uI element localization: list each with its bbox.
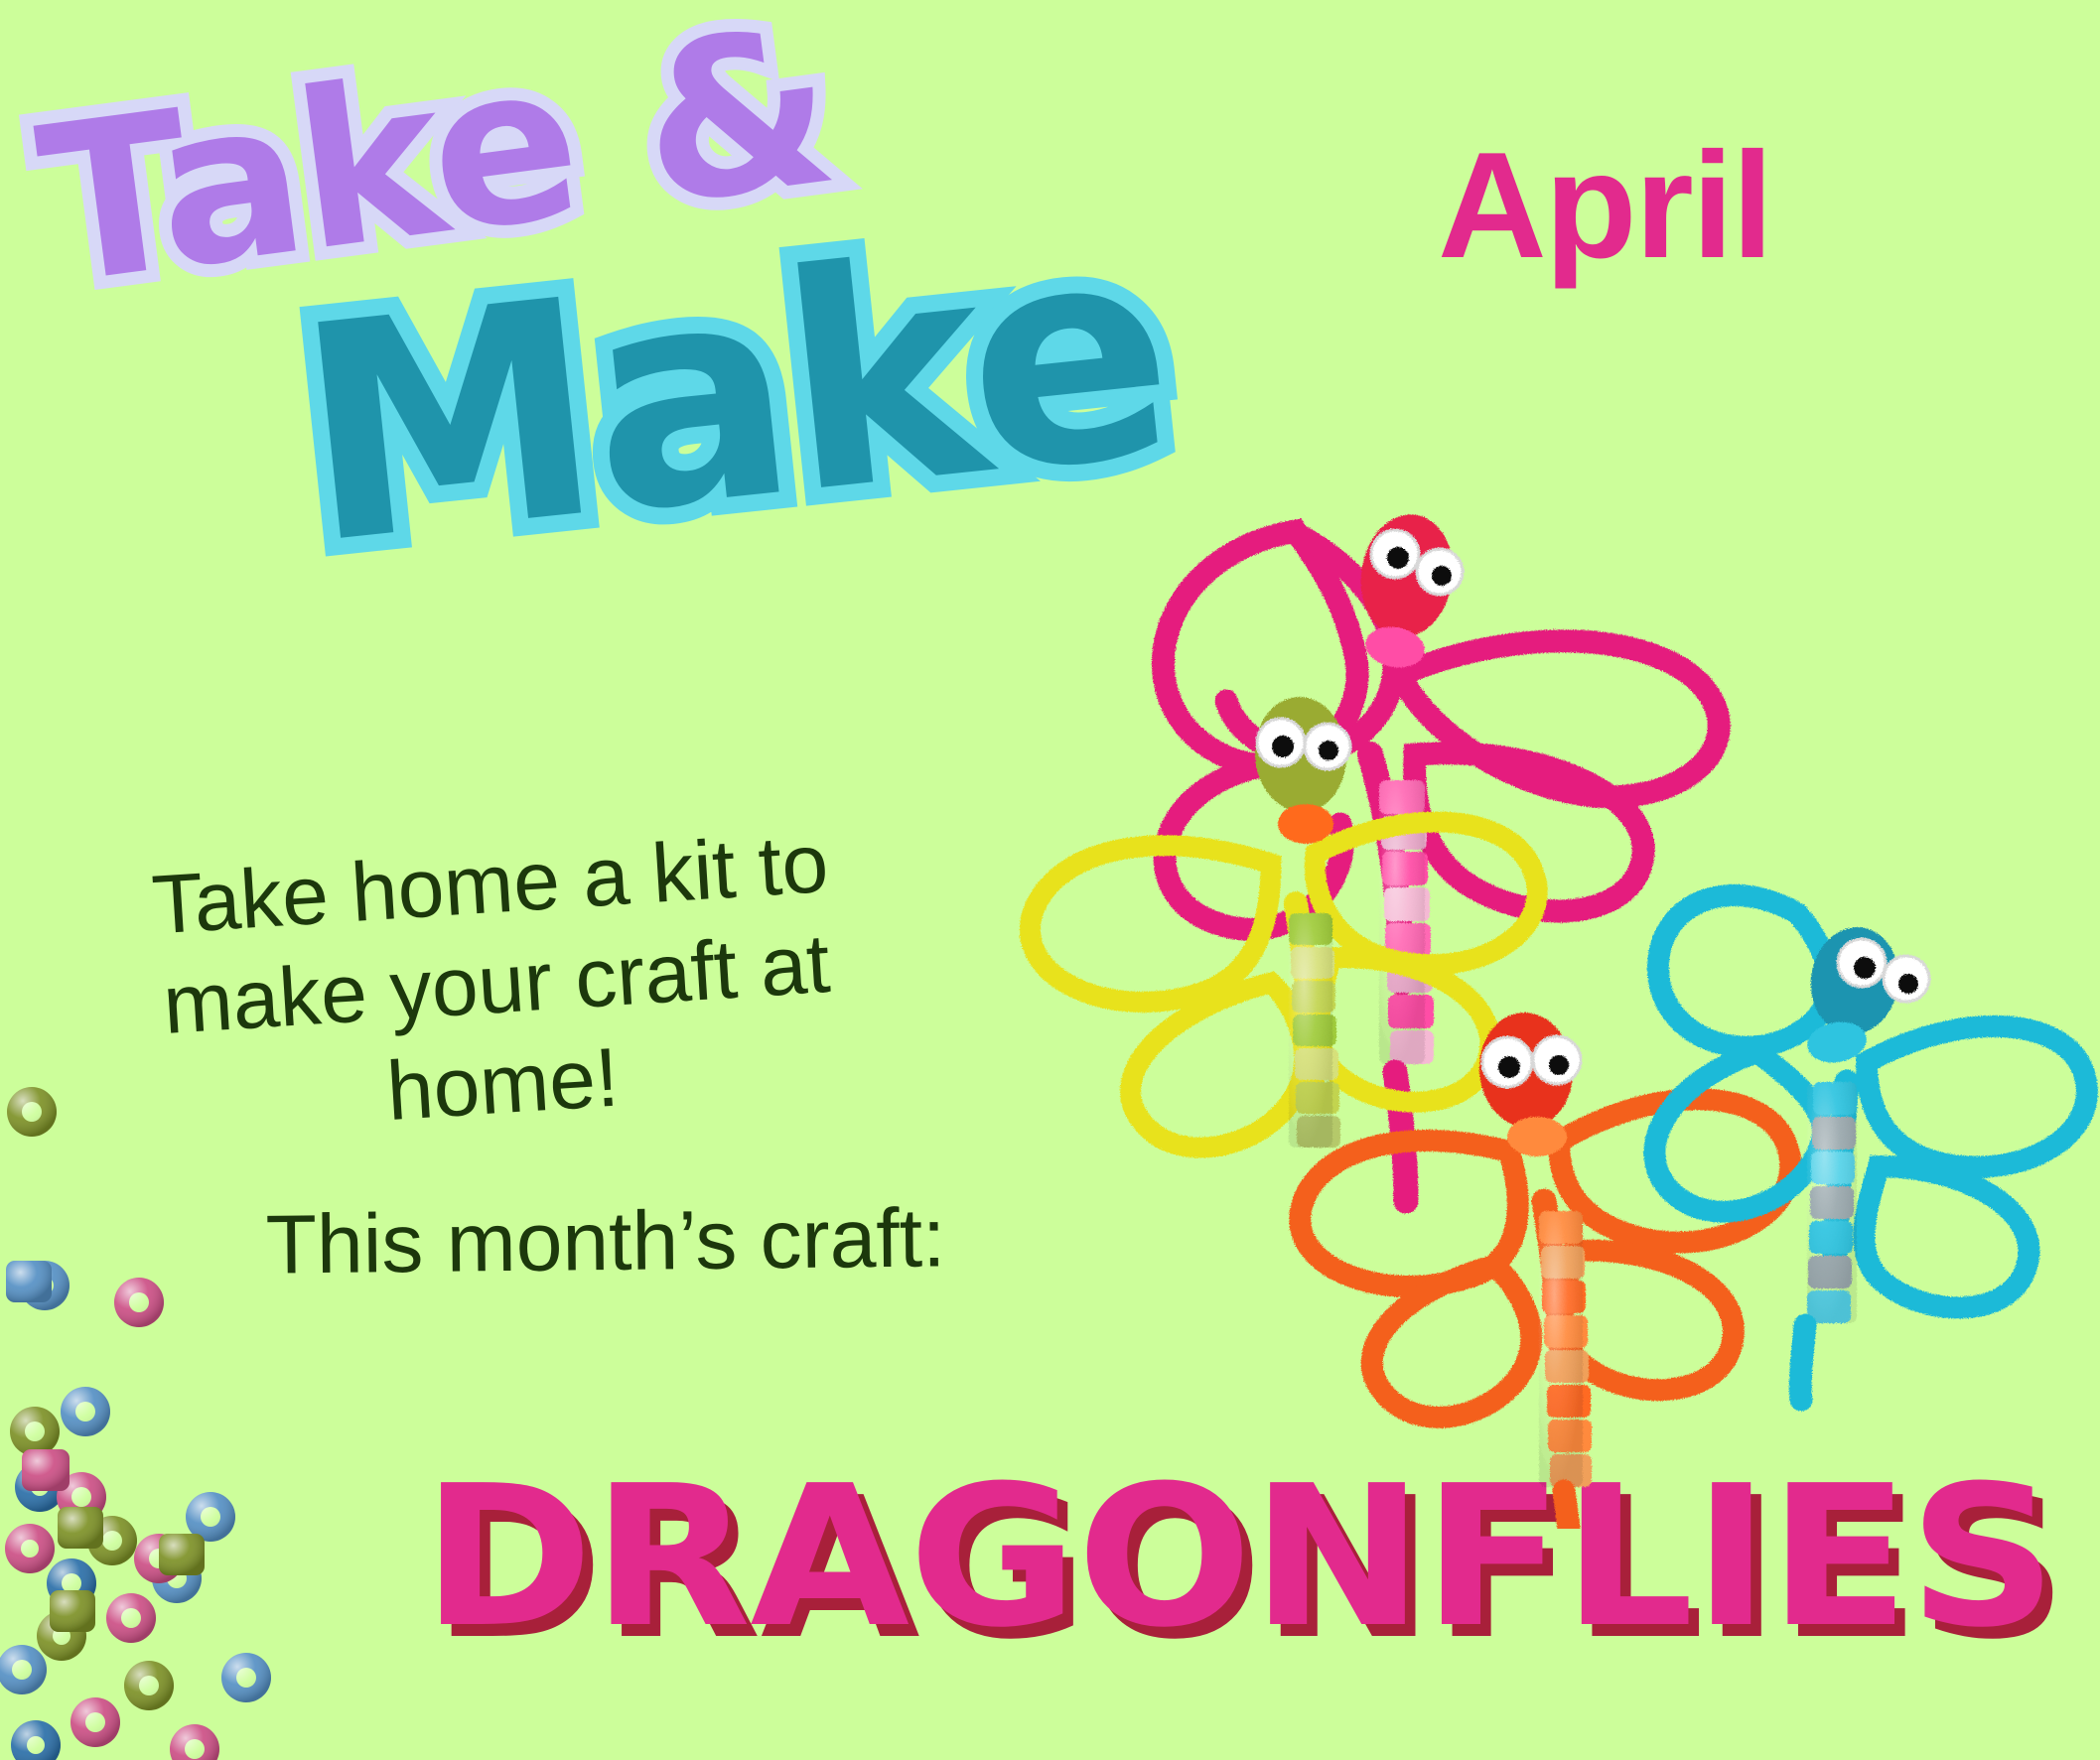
orange-beads: [1539, 1211, 1592, 1487]
bead-group: [0, 1087, 271, 1760]
blue-dragonfly: [1654, 895, 2086, 1400]
month-label: April: [1438, 119, 1771, 293]
bead-decoration: [0, 1082, 427, 1760]
poster-canvas: Take & Make April Take home a kit to mak…: [0, 0, 2100, 1760]
blue-beads: [1807, 1082, 1857, 1323]
dragonfly-photo: [973, 427, 2100, 1529]
